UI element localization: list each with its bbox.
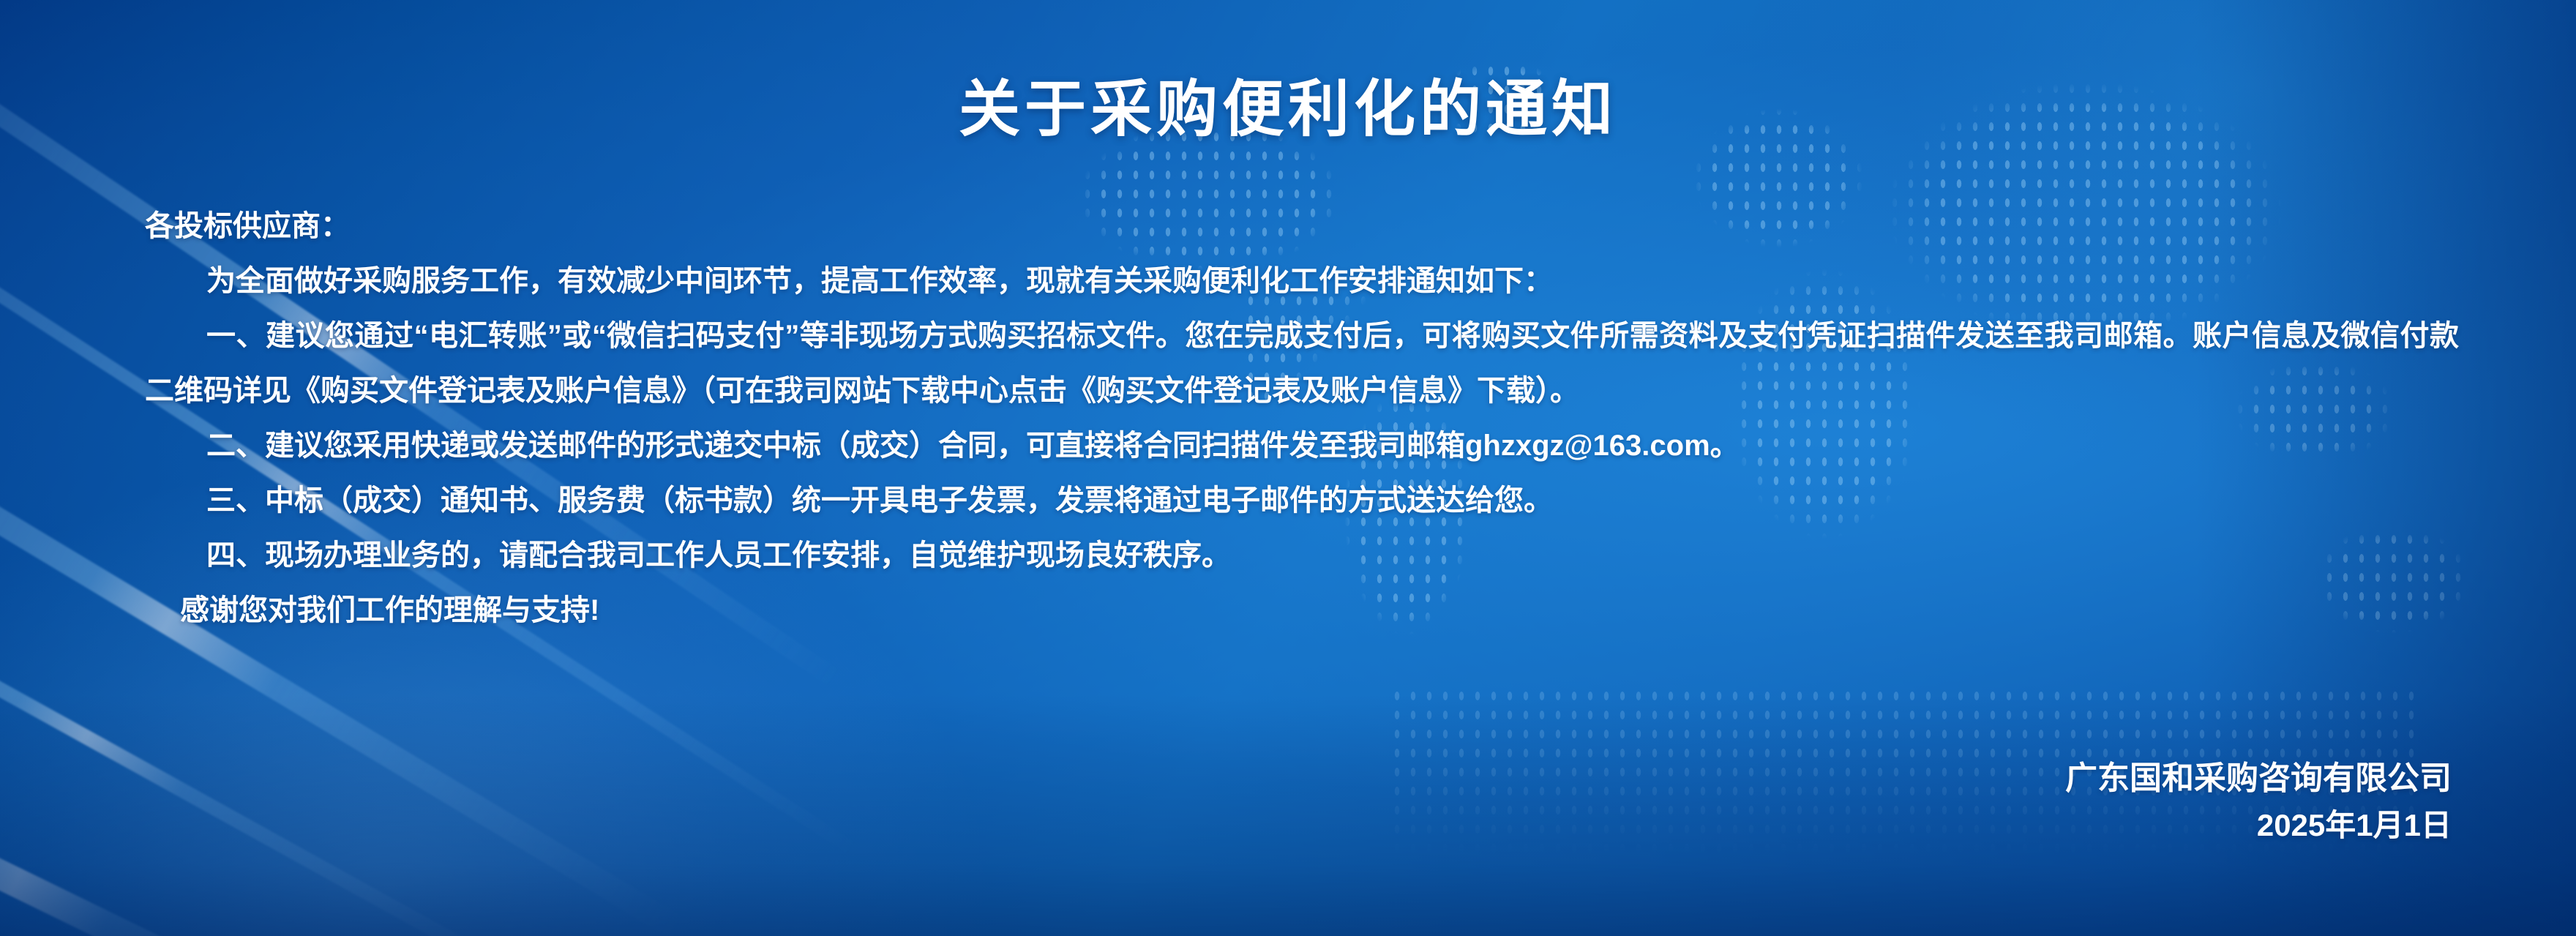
signature-date: 2025年1月1日 — [2065, 803, 2452, 848]
closing-line: 感谢您对我们工作的理解与支持! — [180, 583, 2459, 638]
notice-item-2: 二、建议您采用快递或发送邮件的形式递交中标（成交）合同，可直接将合同扫描件发至我… — [145, 419, 2459, 473]
intro-paragraph: 为全面做好采购服务工作，有效减少中间环节，提高工作效率，现就有关采购便利化工作安… — [145, 254, 2459, 309]
notice-item-4: 四、现场办理业务的，请配合我司工作人员工作安排，自觉维护现场良好秩序。 — [145, 528, 2459, 583]
signature-company: 广东国和采购咨询有限公司 — [2065, 755, 2452, 803]
notice-item-1: 一、建议您通过“电汇转账”或“微信扫码支付”等非现场方式购买招标文件。您在完成支… — [145, 309, 2459, 419]
notice-banner: 关于采购便利化的通知 各投标供应商： 为全面做好采购服务工作，有效减少中间环节，… — [0, 0, 2576, 936]
notice-content: 关于采购便利化的通知 各投标供应商： 为全面做好采购服务工作，有效减少中间环节，… — [0, 0, 2576, 936]
signature-block: 广东国和采购咨询有限公司 2025年1月1日 — [2065, 755, 2452, 848]
notice-body: 各投标供应商： 为全面做好采购服务工作，有效减少中间环节，提高工作效率，现就有关… — [145, 199, 2459, 638]
notice-item-3: 三、中标（成交）通知书、服务费（标书款）统一开具电子发票，发票将通过电子邮件的方… — [145, 473, 2459, 528]
salutation: 各投标供应商： — [145, 199, 2459, 254]
page-title: 关于采购便利化的通知 — [0, 60, 2576, 149]
